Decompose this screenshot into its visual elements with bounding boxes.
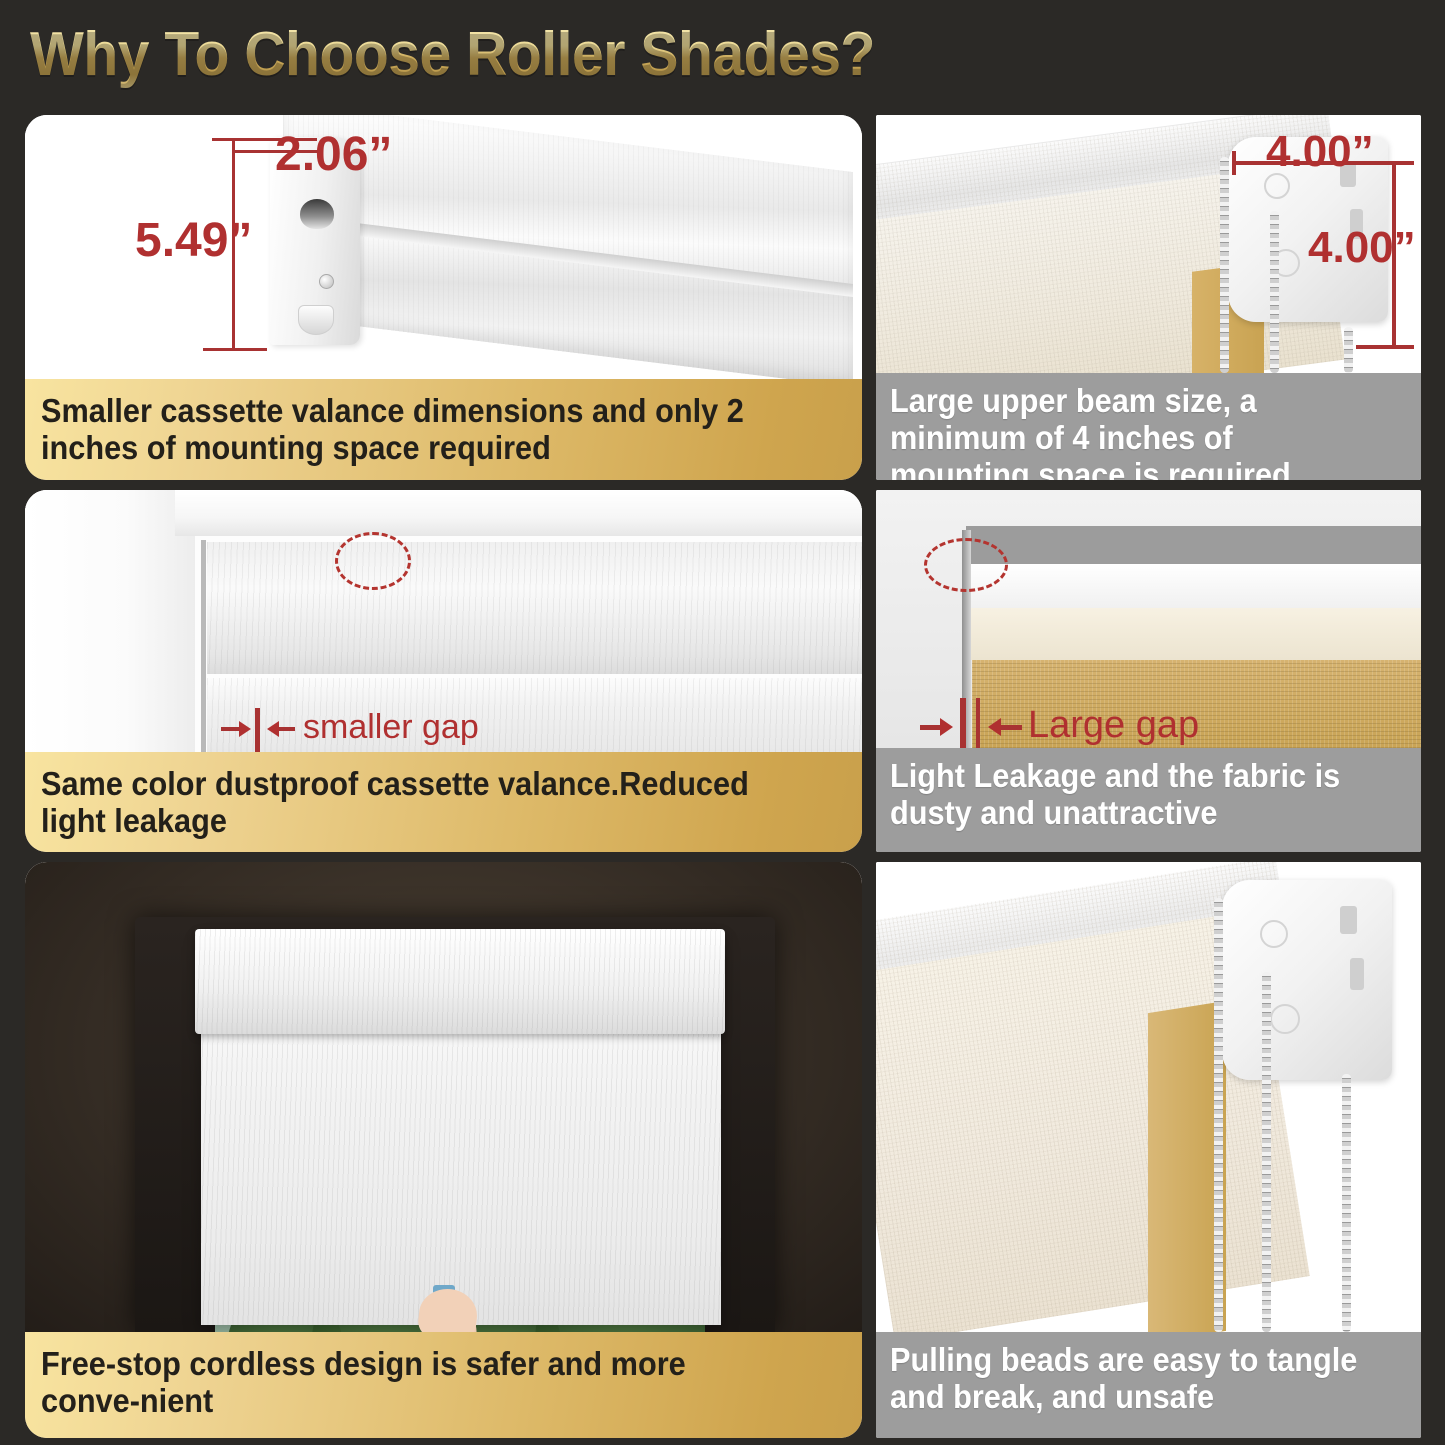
cassette-photo: 2.06” 5.49” <box>25 115 862 379</box>
header: Why To Choose Roller Shades? <box>0 0 1445 108</box>
large-gap-label: Large gap <box>1028 704 1199 747</box>
caption-bar-pro-3: Free-stop cordless design is safer and m… <box>25 1332 862 1438</box>
caption-text: Same color dustproof cassette valance.Re… <box>41 766 788 840</box>
gap-arrow-right-head <box>988 718 1001 736</box>
gap-arrow-right-head <box>267 721 279 737</box>
endcap-knob-icon <box>298 305 334 335</box>
beam-height-label: 4.00” <box>1308 223 1416 273</box>
panel-large-gap: Large gap Light Leakage and the fabric i… <box>876 490 1421 852</box>
caption-text: Pulling beads are easy to tangle and bre… <box>890 1342 1371 1416</box>
beam-width-label: 4.00” <box>1266 127 1374 177</box>
large-gap-photo: Large gap <box>876 490 1421 748</box>
panel-cordless-window: Free-stop cordless design is safer and m… <box>25 862 862 1438</box>
panel-large-beam: 4.00” 4.00” Large upper beam size, a min… <box>876 115 1421 480</box>
gap-arrow-left-head <box>239 721 251 737</box>
gap-arrow-left-head <box>940 718 953 736</box>
cordless-window-photo <box>25 862 862 1332</box>
bead-chain-mid <box>1270 211 1279 373</box>
pull-beads-photo <box>876 862 1421 1332</box>
width-dimension-label: 2.06” <box>275 127 392 182</box>
endcap-slot-icon <box>300 199 334 229</box>
beam-height-tick-b <box>1356 345 1414 349</box>
bead-chain-mid <box>1262 972 1271 1332</box>
panel-cassette-dimensions: 2.06” 5.49” Smaller cassette valance dim… <box>25 115 862 480</box>
bead-chain-left <box>1214 898 1223 1332</box>
gap-marker-line-b <box>976 698 980 748</box>
comparison-grid: 2.06” 5.49” Smaller cassette valance dim… <box>0 108 1445 1445</box>
gap-marker-line-a <box>960 698 966 748</box>
caption-text: Free-stop cordless design is safer and m… <box>41 1346 788 1420</box>
panel-pull-beads: Pulling beads are easy to tangle and bre… <box>876 862 1421 1438</box>
beam-width-tick-l <box>1232 151 1236 175</box>
caption-text: Large upper beam size, a minimum of 4 in… <box>890 383 1371 480</box>
height-dim-bottom-tick <box>203 348 267 351</box>
endcap-screw-icon <box>319 274 334 289</box>
caption-bar-con-2: Light Leakage and the fabric is dusty an… <box>876 748 1421 852</box>
caption-bar-con-1: Large upper beam size, a minimum of 4 in… <box>876 373 1421 480</box>
gap-arrow-right-line <box>998 725 1022 730</box>
caption-text: Light Leakage and the fabric is dusty an… <box>890 758 1371 832</box>
gap-marker-line <box>255 708 260 752</box>
height-dimension-label: 5.49” <box>135 213 252 268</box>
roller-bracket <box>1222 880 1392 1080</box>
bead-chain-right <box>1344 327 1353 373</box>
beam-height-tick-t <box>1368 161 1414 165</box>
gap-highlight-circle <box>924 538 1008 592</box>
caption-bar-pro-2: Same color dustproof cassette valance.Re… <box>25 752 862 852</box>
caption-bar-pro-1: Smaller cassette valance dimensions and … <box>25 379 862 480</box>
page-title: Why To Choose Roller Shades? <box>30 19 875 90</box>
smaller-gap-label: smaller gap <box>303 708 479 747</box>
caption-bar-con-3: Pulling beads are easy to tangle and bre… <box>876 1332 1421 1438</box>
cassette-valance <box>195 929 725 1034</box>
gap-highlight-circle <box>335 532 411 590</box>
panel-smaller-gap: smaller gap Same color dustproof cassett… <box>25 490 862 852</box>
window-frame <box>135 917 775 1332</box>
bead-chain-left <box>1220 157 1229 373</box>
bead-chain-right <box>1342 1074 1351 1332</box>
smaller-gap-photo: smaller gap <box>25 490 862 752</box>
caption-text: Smaller cassette valance dimensions and … <box>41 393 788 467</box>
large-beam-photo: 4.00” 4.00” <box>876 115 1421 373</box>
